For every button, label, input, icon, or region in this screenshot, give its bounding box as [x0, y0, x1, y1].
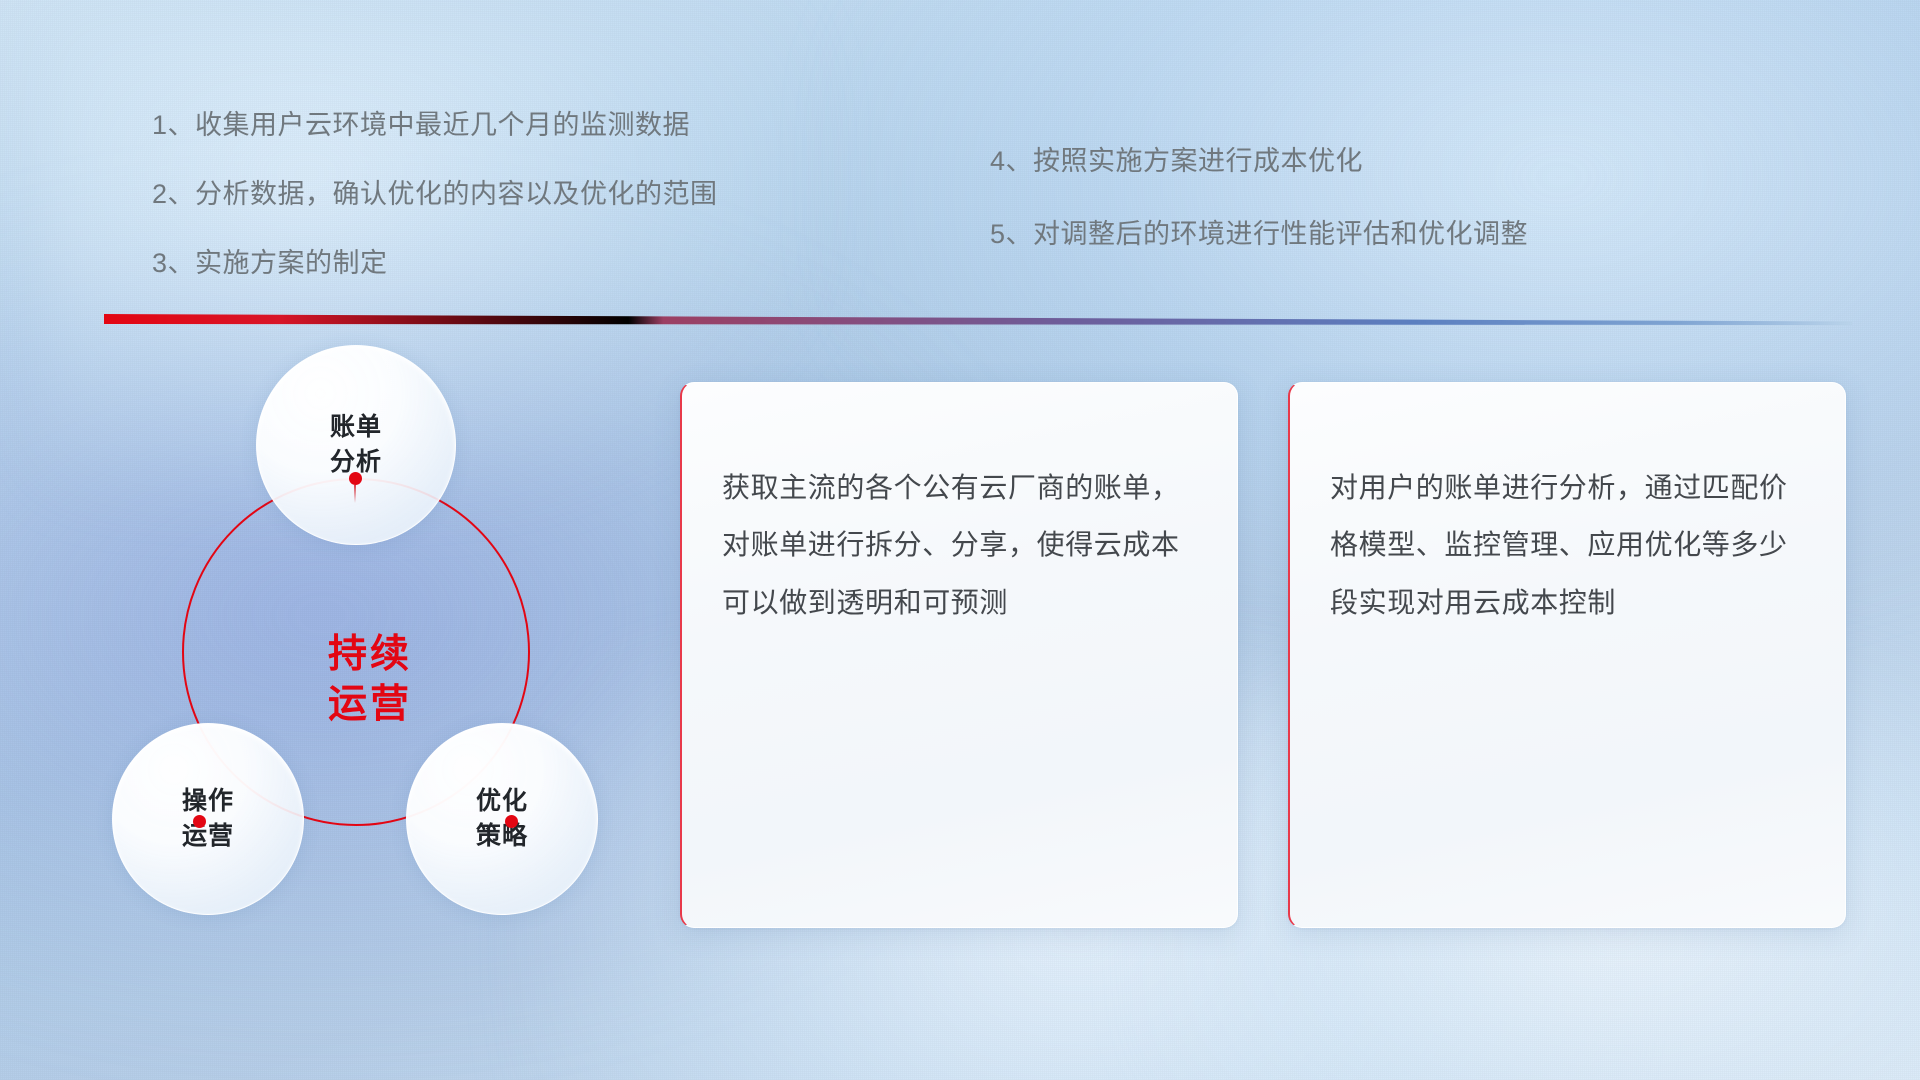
step-text-4: 按照实施方案进行成本优化: [1033, 146, 1363, 176]
venn-bubble-top-label: 账单 分析: [330, 410, 382, 481]
card-2-body: 对用户的账单进行分析，通过匹配价格模型、监控管理、应用优化等多少段实现对用云成本…: [1330, 459, 1815, 631]
card-1-body: 获取主流的各个公有云厂商的账单，对账单进行拆分、分享，使得云成本可以做到透明和可…: [722, 459, 1207, 631]
venn-bubble-top-line1: 账单: [330, 410, 382, 446]
venn-bubble-bottom-right-label: 优化 策略: [476, 784, 528, 855]
step-text-5: 对调整后的环境进行性能评估和优化调整: [1033, 219, 1528, 249]
step-number-4: 4、: [990, 146, 1033, 176]
step-number-2: 2、: [152, 179, 195, 209]
venn-bubble-br-line2: 策略: [476, 819, 528, 855]
venn-node-dot-bottom-right: [505, 815, 518, 828]
step-text-2: 分析数据，确认优化的内容以及优化的范围: [195, 179, 718, 209]
step-number-5: 5、: [990, 219, 1033, 249]
steps-right-column: 4、按照实施方案进行成本优化 5、对调整后的环境进行性能评估和优化调整: [990, 148, 1528, 294]
step-item-4: 4、按照实施方案进行成本优化: [990, 148, 1528, 175]
venn-bubble-bl-line2: 运营: [182, 819, 234, 855]
step-item-2: 2、分析数据，确认优化的内容以及优化的范围: [152, 181, 718, 208]
venn-node-dot-bottom-left: [193, 815, 206, 828]
venn-bubble-bill-analysis[interactable]: 账单 分析: [256, 345, 456, 545]
venn-bubble-optimization-strategy[interactable]: 优化 策略: [406, 723, 598, 915]
step-text-1: 收集用户云环境中最近几个月的监测数据: [195, 110, 690, 140]
venn-bubble-bottom-left-label: 操作 运营: [182, 784, 234, 855]
venn-node-dot-top: [349, 472, 362, 485]
card-cloud-cost-optimization[interactable]: 对用户的账单进行分析，通过匹配价格模型、监控管理、应用优化等多少段实现对用云成本…: [1288, 382, 1846, 928]
step-item-3: 3、实施方案的制定: [152, 250, 718, 277]
venn-bubble-bl-line1: 操作: [182, 784, 234, 820]
venn-bubble-operations[interactable]: 操作 运营: [112, 723, 304, 915]
step-number-1: 1、: [152, 110, 195, 140]
step-item-5: 5、对调整后的环境进行性能评估和优化调整: [990, 221, 1528, 248]
card-multicloud-billing[interactable]: 获取主流的各个公有云厂商的账单，对账单进行拆分、分享，使得云成本可以做到透明和可…: [680, 382, 1238, 928]
step-text-3: 实施方案的制定: [195, 248, 388, 278]
venn-bubble-br-line1: 优化: [476, 784, 528, 820]
step-number-3: 3、: [152, 248, 195, 278]
steps-left-column: 1、收集用户云环境中最近几个月的监测数据 2、分析数据，确认优化的内容以及优化的…: [152, 112, 718, 319]
step-item-1: 1、收集用户云环境中最近几个月的监测数据: [152, 112, 718, 139]
venn-node-tail-top: [354, 485, 356, 503]
section-divider: [104, 312, 1852, 325]
venn-diagram: 持续 运营 账单 分析 操作 运营 优化 策略: [96, 345, 636, 945]
